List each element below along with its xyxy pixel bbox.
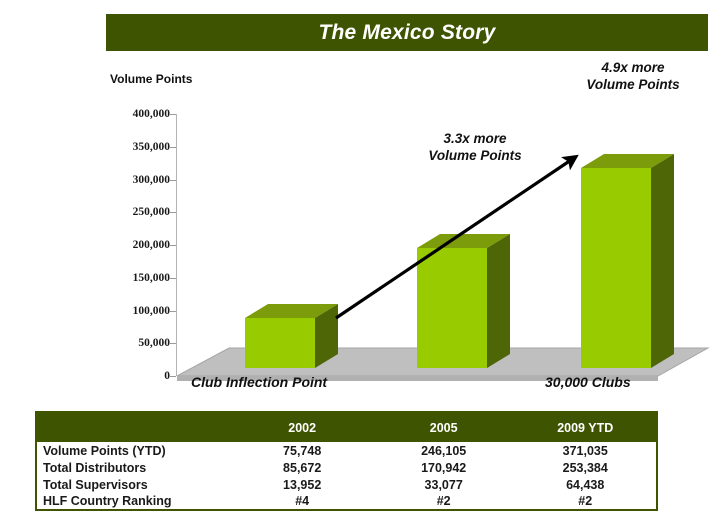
category-label-30000-clubs: 30,000 Clubs	[545, 374, 631, 390]
bar-chart: Volume Points 400,000 350,000 300,000 25…	[0, 51, 721, 396]
cell-total-distributors-2005: 170,942	[373, 459, 515, 476]
cell-hlf-ranking-2005: #2	[373, 493, 515, 510]
annotation-4-9x-line1: 4.9x more	[558, 59, 708, 76]
row-label-total-supervisors: Total Supervisors	[36, 476, 231, 493]
row-label-volume-points-ytd: Volume Points (YTD)	[36, 442, 231, 459]
cell-total-supervisors-2009: 64,438	[514, 476, 657, 493]
slide-title-banner: The Mexico Story	[106, 14, 708, 51]
cell-total-distributors-2002: 85,672	[231, 459, 372, 476]
page-title: The Mexico Story	[318, 21, 495, 45]
table-header-2009-ytd: 2009 YTD	[514, 412, 657, 442]
cell-total-supervisors-2005: 33,077	[373, 476, 515, 493]
table-row: Total Supervisors 13,952 33,077 64,438	[36, 476, 657, 493]
cell-total-distributors-2009: 253,384	[514, 459, 657, 476]
annotation-4-9x: 4.9x more Volume Points	[558, 59, 708, 93]
table-header-row: 2002 2005 2009 YTD	[36, 412, 657, 442]
table-header-blank	[36, 412, 231, 442]
table-header-2002: 2002	[231, 412, 372, 442]
annotation-3-3x-line2: Volume Points	[400, 147, 550, 164]
row-label-hlf-country-ranking: HLF Country Ranking	[36, 493, 231, 510]
annotation-3-3x: 3.3x more Volume Points	[400, 130, 550, 164]
table-header-2005: 2005	[373, 412, 515, 442]
metrics-table: 2002 2005 2009 YTD Volume Points (YTD) 7…	[35, 411, 658, 511]
cell-volume-points-2002: 75,748	[231, 442, 372, 459]
table-row: HLF Country Ranking #4 #2 #2	[36, 493, 657, 510]
row-label-total-distributors: Total Distributors	[36, 459, 231, 476]
annotation-4-9x-line2: Volume Points	[558, 76, 708, 93]
table-row: Volume Points (YTD) 75,748 246,105 371,0…	[36, 442, 657, 459]
table-row: Total Distributors 85,672 170,942 253,38…	[36, 459, 657, 476]
category-label-club-inflection-point: Club Inflection Point	[191, 374, 327, 390]
growth-arrow	[0, 51, 721, 396]
cell-volume-points-2009: 371,035	[514, 442, 657, 459]
cell-total-supervisors-2002: 13,952	[231, 476, 372, 493]
cell-volume-points-2005: 246,105	[373, 442, 515, 459]
annotation-3-3x-line1: 3.3x more	[400, 130, 550, 147]
cell-hlf-ranking-2009: #2	[514, 493, 657, 510]
cell-hlf-ranking-2002: #4	[231, 493, 372, 510]
